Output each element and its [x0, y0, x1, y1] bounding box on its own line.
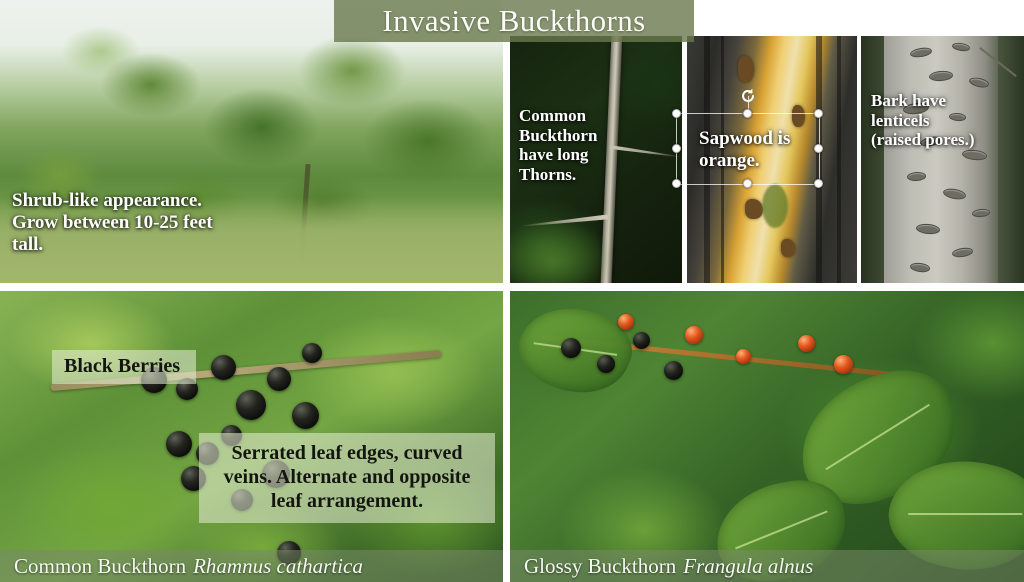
caption-common-name: Common Buckthorn: [14, 554, 186, 579]
black-berry: [267, 367, 291, 391]
bark-chip: [781, 239, 795, 257]
black-berry: [236, 390, 266, 420]
glossy-buckthorn-photo[interactable]: Black-Red Berries Smooth leaf edges, str…: [510, 291, 1024, 582]
lenticel: [942, 187, 966, 201]
lenticel: [916, 223, 941, 235]
callout-shrub-appearance: Shrub-like appearance. Grow between 10-2…: [12, 190, 232, 256]
black-berry: [664, 361, 683, 380]
rotate-icon[interactable]: [739, 87, 757, 105]
background-left: [861, 36, 884, 283]
black-berry: [561, 338, 581, 358]
lenticel: [962, 148, 988, 161]
lenticel: [968, 76, 989, 89]
text-selection-bounding-box[interactable]: [676, 113, 820, 185]
callout-serrated-leaves: Serrated leaf edges, curved veins. Alter…: [199, 433, 495, 523]
resize-handle-w[interactable]: [672, 144, 681, 153]
caption-glossy-buckthorn: Glossy Buckthorn Frangula alnus: [510, 550, 1024, 582]
callout-black-berries: Black Berries: [52, 350, 196, 384]
bark-closeup-photo[interactable]: Bark have lenticels (raised pores.): [861, 36, 1024, 283]
thorn-closeup-photo[interactable]: Common Buckthorn have long Thorns.: [510, 36, 682, 283]
moss-patch: [762, 184, 788, 228]
resize-handle-sw[interactable]: [672, 179, 681, 188]
caption-scientific-name: Frangula alnus: [676, 554, 813, 579]
lenticel: [909, 47, 932, 60]
caption-common-buckthorn: Common Buckthorn Rhamnus cathartica: [0, 550, 503, 582]
lenticel: [909, 262, 930, 273]
black-berry: [211, 355, 236, 380]
caption-scientific-name: Rhamnus cathartica: [186, 554, 363, 579]
black-berry: [292, 402, 319, 429]
shrub-habit-photo[interactable]: Shrub-like appearance. Grow between 10-2…: [0, 0, 503, 283]
red-berry: [618, 314, 634, 330]
page-title: Invasive Buckthorns: [382, 3, 645, 39]
red-berry: [685, 326, 703, 344]
lenticel: [971, 208, 990, 218]
resize-handle-e[interactable]: [814, 144, 823, 153]
resize-handle-s[interactable]: [743, 179, 752, 188]
black-berry: [166, 431, 192, 457]
resize-handle-ne[interactable]: [814, 109, 823, 118]
invasive-buckthorns-poster: Shrub-like appearance. Grow between 10-2…: [0, 0, 1024, 582]
callout-bark-lenticels: Bark have lenticels (raised pores.): [871, 91, 975, 150]
bark-chip: [745, 199, 763, 219]
bark-streak: [837, 36, 841, 283]
red-berry: [834, 355, 853, 374]
callout-thorns: Common Buckthorn have long Thorns.: [519, 106, 631, 185]
poster-title-band: Invasive Buckthorns: [334, 0, 694, 42]
lenticel: [906, 171, 926, 181]
resize-handle-n[interactable]: [743, 109, 752, 118]
caption-common-name: Glossy Buckthorn: [524, 554, 676, 579]
bark-chip: [738, 56, 754, 82]
lenticel: [952, 247, 974, 259]
lenticel: [929, 70, 954, 82]
red-berry: [798, 335, 815, 352]
black-berry: [633, 332, 650, 349]
resize-handle-se[interactable]: [814, 179, 823, 188]
resize-handle-nw[interactable]: [672, 109, 681, 118]
background-foliage: [510, 219, 613, 283]
lenticel: [952, 42, 971, 52]
